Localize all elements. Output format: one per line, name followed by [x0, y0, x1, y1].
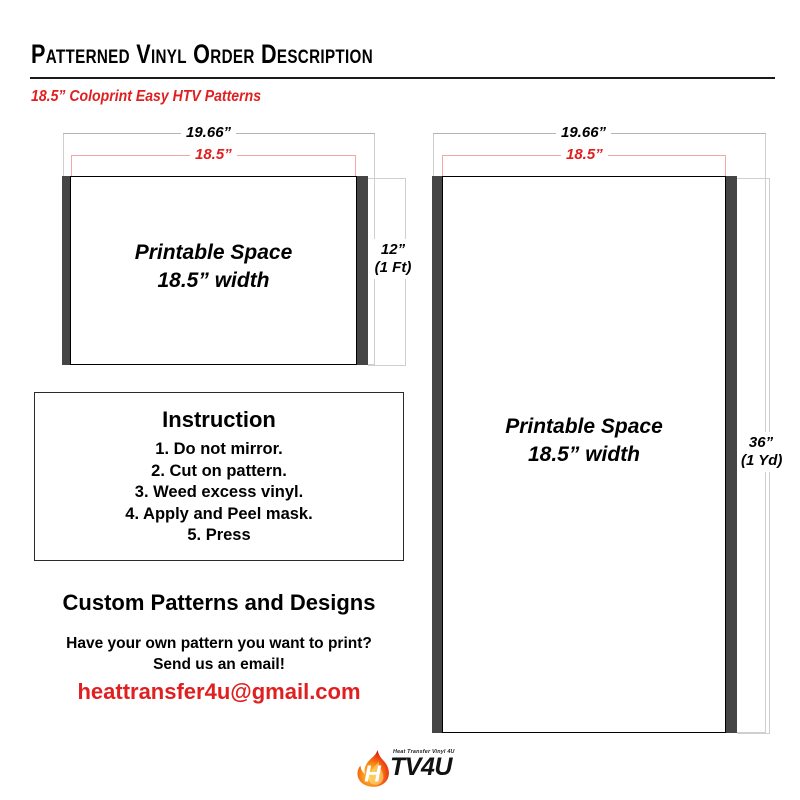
instruction-title: Instruction: [35, 407, 403, 433]
printable-sheet-12in: Printable Space 18.5” width: [70, 176, 357, 365]
dimension-label-printable-12in: 18.5”: [190, 147, 237, 163]
page-title: Patterned Vinyl Order Description: [31, 40, 373, 68]
order-description-page: Patterned Vinyl Order Description 18.5” …: [0, 0, 800, 800]
instruction-step: 3. Weed excess vinyl.: [35, 482, 403, 504]
height-label-primary-12in: 12”: [381, 241, 405, 258]
dimension-label-printable-36in: 18.5”: [561, 147, 608, 163]
height-label-12in: 12” (1 Ft): [370, 239, 416, 279]
logo-flame-letter: H: [364, 761, 381, 787]
height-label-36in: 36” (1 Yd): [738, 432, 784, 472]
printable-sheet-36in: Printable Space 18.5” width: [442, 176, 726, 733]
height-label-secondary-36in: (1 Yd): [741, 452, 782, 469]
printable-caption-line2-36in: 18.5” width: [443, 441, 725, 469]
custom-patterns-subtext: Have your own pattern you want to print?…: [34, 633, 404, 675]
printable-sheet-caption-12in: Printable Space 18.5” width: [71, 239, 356, 295]
printable-caption-line1-12in: Printable Space: [135, 241, 293, 264]
brand-logo[interactable]: H Heat Transfer Vinyl 4U TV4U: [355, 748, 465, 788]
instruction-step: 2. Cut on pattern.: [35, 461, 403, 483]
instruction-step: 4. Apply and Peel mask.: [35, 504, 403, 526]
printable-sheet-caption-36in: Printable Space 18.5” width: [443, 413, 725, 469]
height-label-secondary-12in: (1 Ft): [375, 259, 412, 276]
flame-icon: H: [355, 748, 395, 788]
instruction-list: 1. Do not mirror. 2. Cut on pattern. 3. …: [35, 439, 403, 547]
right-edge-bar-36in: [725, 176, 737, 733]
custom-patterns-line1: Have your own pattern you want to print?: [34, 633, 404, 654]
title-divider: [30, 77, 775, 79]
right-edge-bar-12in: [356, 176, 368, 365]
height-label-primary-36in: 36”: [749, 434, 773, 451]
printable-caption-line2-12in: 18.5” width: [71, 267, 356, 295]
dimension-label-outer-12in: 19.66”: [181, 125, 236, 141]
printable-caption-line1-36in: Printable Space: [505, 415, 663, 438]
page-subtitle: 18.5” Coloprint Easy HTV Patterns: [31, 88, 261, 106]
dimension-label-outer-36in: 19.66”: [556, 125, 611, 141]
instruction-box: Instruction 1. Do not mirror. 2. Cut on …: [34, 392, 404, 561]
logo-wordmark: TV4U: [390, 754, 452, 781]
instruction-step: 5. Press: [35, 525, 403, 547]
contact-email-link[interactable]: heattransfer4u@gmail.com: [34, 678, 404, 706]
custom-patterns-line2: Send us an email!: [34, 654, 404, 675]
instruction-step: 1. Do not mirror.: [35, 439, 403, 461]
custom-patterns-heading: Custom Patterns and Designs: [34, 589, 404, 617]
